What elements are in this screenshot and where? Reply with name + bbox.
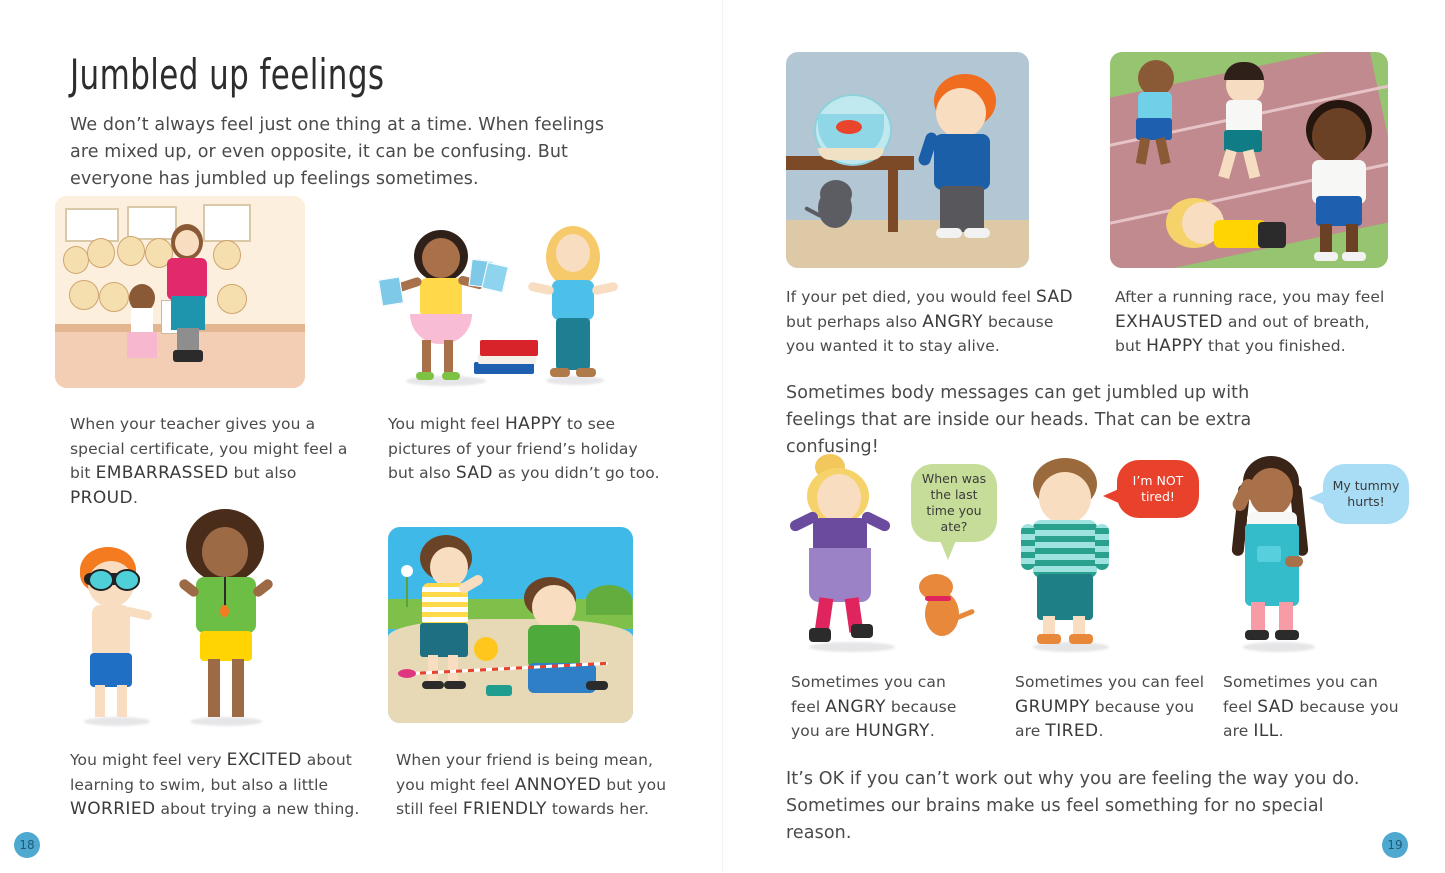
pupil-head <box>117 236 145 266</box>
illustration-classroom-certificate <box>55 196 305 388</box>
caption-classroom: When your teacher gives you a special ce… <box>70 412 360 510</box>
bubble-tail <box>1103 488 1121 504</box>
whistle-icon <box>220 605 229 617</box>
emphasis-word: EXHAUSTED <box>1115 312 1223 332</box>
dog-collar <box>925 596 951 601</box>
emphasis-word: SAD <box>456 463 493 483</box>
caption-tired: Sometimes you can feel GRUMPY because yo… <box>1015 670 1205 744</box>
photo-card <box>378 276 404 306</box>
student-skirt <box>127 332 157 358</box>
emphasis-word: HAPPY <box>1146 336 1203 356</box>
ground-shadow <box>190 717 262 726</box>
speech-bubble-text: My tummy hurts! <box>1331 478 1401 510</box>
wall-picture-3 <box>203 204 251 242</box>
flower-head <box>401 565 413 577</box>
ground-shadow <box>546 376 604 385</box>
caption-text: After a running race, you may feel <box>1115 288 1384 306</box>
cat-head <box>820 180 852 208</box>
caption-hungry: Sometimes you can feel ANGRY because you… <box>791 670 976 744</box>
goldfish <box>836 120 862 134</box>
emphasis-word: EMBARRASSED <box>96 463 229 483</box>
right-page: If your pet died, you would feel SAD but… <box>723 0 1445 873</box>
caption-text: but also <box>229 464 297 482</box>
boy-arm <box>1021 524 1035 570</box>
caption-text: If your pet died, you would feel <box>786 288 1036 306</box>
goggle-lens <box>88 569 114 591</box>
boy-striped-jumper <box>1033 520 1097 578</box>
illustration-holiday-photos <box>378 222 646 394</box>
bubble-tail <box>939 538 957 560</box>
speech-bubble-text: When was the last time you ate? <box>919 471 989 535</box>
girl-boot <box>851 624 873 638</box>
emphasis-word: GRUMPY <box>1015 697 1090 717</box>
winner-shoe <box>1314 252 1338 261</box>
girl-skirt <box>420 623 468 657</box>
caption-text: about trying a new thing. <box>155 800 359 818</box>
winner-face <box>1312 108 1366 164</box>
boy-face <box>1039 472 1091 524</box>
girl2-arm <box>591 281 618 295</box>
caption-running-race: After a running race, you may feel EXHAU… <box>1115 285 1390 359</box>
emphasis-word: ANNOYED <box>515 775 602 795</box>
caption-text: . <box>1098 722 1103 740</box>
wall-picture-1 <box>65 208 119 242</box>
girl-face <box>1249 468 1293 516</box>
room-floor <box>786 220 1029 268</box>
boy-trousers <box>940 186 984 232</box>
girl1-tutu <box>410 314 472 344</box>
teacher-skirt <box>171 296 205 330</box>
pupil-head <box>69 280 99 310</box>
girl-dress <box>809 548 871 602</box>
caption-text: . <box>930 722 935 740</box>
caption-text: You might feel <box>388 415 505 433</box>
coach-leg <box>208 659 220 717</box>
winner-leg <box>1346 224 1358 254</box>
girl-shoe <box>444 681 466 689</box>
girl-shoe <box>1245 630 1269 640</box>
winner-leg <box>1320 224 1332 254</box>
girl-shoe <box>1275 630 1299 640</box>
flower-stem <box>406 573 408 607</box>
girl-face <box>817 474 861 522</box>
illustration-playground-argument <box>388 527 633 723</box>
coach-leg <box>232 659 244 717</box>
goggle-lens <box>114 569 140 591</box>
boy-shorts <box>1037 574 1093 620</box>
ground-shadow <box>1243 642 1315 652</box>
boy-shoe <box>1069 634 1093 644</box>
pinafore-pocket <box>1257 546 1281 562</box>
emphasis-word: ANGRY <box>825 697 886 717</box>
closing-paragraph: It’s OK if you can’t work out why you ar… <box>786 766 1386 847</box>
boy-shoe <box>936 228 962 238</box>
caption-ill: Sometimes you can feel SAD because you a… <box>1223 670 1403 744</box>
figure-tired-boy: I’m NOT tired! <box>1015 450 1215 657</box>
girl1-tshirt <box>420 278 462 318</box>
figure-hungry-girl: When was the last time you ate? <box>791 452 1006 657</box>
figure-ill-girl: My tummy hurts! <box>1223 450 1423 657</box>
pupil-head <box>63 246 89 274</box>
boy-shoe <box>1037 634 1061 644</box>
coach-face <box>202 527 248 577</box>
teacher-top <box>167 258 207 300</box>
girl1-leg <box>444 340 453 376</box>
girl2-arm <box>527 281 554 295</box>
runner3-lying-shorts <box>1258 222 1286 248</box>
girl2-shoe <box>550 368 570 377</box>
boy-shoe <box>964 228 990 238</box>
caption-pet-died: If your pet died, you would feel SAD but… <box>786 285 1076 359</box>
speech-bubble-text: I’m NOT tired! <box>1125 473 1191 505</box>
pupil-head <box>217 284 247 314</box>
girl2-shoe <box>576 368 596 377</box>
speech-bubble-tummy: My tummy hurts! <box>1323 464 1409 524</box>
emphasis-word: WORRIED <box>70 799 155 819</box>
speech-bubble-hungry: When was the last time you ate? <box>911 464 997 542</box>
boy-leg <box>95 685 105 717</box>
caption-playground: When your friend is being mean, you migh… <box>396 748 676 822</box>
caption-text: Sometimes you can feel <box>1015 673 1204 691</box>
girl2-face <box>556 234 590 272</box>
pupil-head <box>99 282 129 312</box>
girl1-shoe <box>416 372 434 380</box>
boy-arm <box>1095 524 1109 570</box>
runner2-hair <box>1224 62 1264 80</box>
girl-face <box>430 547 468 587</box>
caption-text: . <box>1279 722 1284 740</box>
girl-hand-on-tummy <box>1285 556 1303 567</box>
middle-paragraph: Sometimes body messages can get jumbled … <box>786 380 1316 461</box>
runner2-vest <box>1226 100 1262 134</box>
ground-shadow <box>84 717 150 726</box>
runner1-head <box>1138 60 1174 96</box>
illustration-running-race <box>1110 52 1388 268</box>
boy-face <box>936 88 986 138</box>
caption-text: . <box>133 489 138 507</box>
emphasis-word: ANGRY <box>922 312 983 332</box>
boy-jumper <box>934 134 990 190</box>
emphasis-word: HAPPY <box>505 414 562 434</box>
caption-holiday-photos: You might feel HAPPY to see pictures of … <box>388 412 663 486</box>
girl2-jeans <box>556 318 590 370</box>
caption-swimming: You might feel very EXCITED about learni… <box>70 748 360 822</box>
illustration-pet-fish-died <box>786 52 1029 268</box>
bush <box>586 585 632 615</box>
book-red <box>480 340 538 356</box>
emphasis-word: TIRED <box>1045 721 1098 741</box>
boy-leg <box>117 685 127 717</box>
pupil-head <box>213 240 241 270</box>
yellow-ball <box>474 637 498 661</box>
ground-shadow <box>809 642 895 652</box>
winner-shorts <box>1316 196 1362 226</box>
toy-car <box>486 685 512 696</box>
emphasis-word: EXCITED <box>227 750 302 770</box>
page-number-right: 19 <box>1382 832 1408 858</box>
teacher-boots <box>173 350 203 362</box>
emphasis-word: SAD <box>1257 697 1294 717</box>
page-number-left: 18 <box>14 832 40 858</box>
emphasis-word: SAD <box>1036 287 1073 307</box>
pupil-head <box>87 238 115 268</box>
runner2-shorts <box>1224 130 1262 152</box>
bubble-tail <box>1309 490 1327 506</box>
bowl-gravel <box>818 148 884 160</box>
caption-text: as you didn’t go too. <box>493 464 660 482</box>
girl1-leg <box>422 340 431 376</box>
coach-shorts <box>200 631 252 661</box>
speech-bubble-not-tired: I’m NOT tired! <box>1117 460 1199 518</box>
teacher-face <box>175 230 199 256</box>
caption-text: You might feel very <box>70 751 227 769</box>
page-title: Jumbled up feelings <box>70 50 384 99</box>
girl1-face <box>422 238 460 278</box>
emphasis-word: FRIENDLY <box>463 799 547 819</box>
boy-shoe <box>586 681 608 690</box>
emphasis-word: HUNGRY <box>855 721 930 741</box>
girl2-tshirt <box>552 280 594 320</box>
caption-text: towards her. <box>547 800 649 818</box>
boy-swim-trunks <box>90 653 132 687</box>
girl-shoe <box>422 681 444 689</box>
intro-paragraph: We don’t always feel just one thing at a… <box>70 112 615 193</box>
caption-text: that you finished. <box>1203 337 1346 355</box>
photo-card <box>481 262 509 293</box>
rope-handle <box>398 669 416 678</box>
wall-picture-2 <box>127 206 177 240</box>
winner-shoe <box>1342 252 1366 261</box>
table-leg <box>888 168 898 232</box>
emphasis-word: ILL <box>1253 721 1278 741</box>
caption-text: but perhaps also <box>786 313 922 331</box>
left-page: Jumbled up feelings We don’t always feel… <box>0 0 722 873</box>
girl-boot <box>809 628 831 642</box>
girl1-shoe <box>442 372 460 380</box>
boy-face <box>532 585 576 629</box>
illustration-swimming-lesson <box>62 505 302 733</box>
